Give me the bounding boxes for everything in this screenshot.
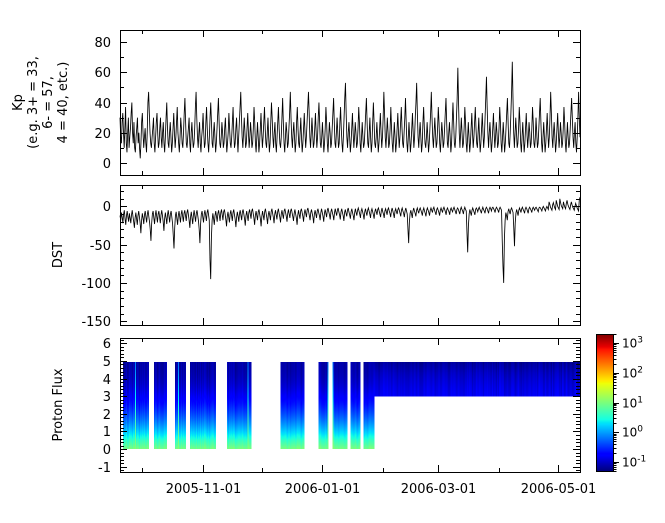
dst-axis-label: DST	[51, 242, 66, 268]
ytick-label-proton_flux-3: 2	[103, 408, 111, 423]
xtick-label-2006-05-01: 2006-05-01	[521, 482, 597, 497]
ytick-label-kp-0: 0	[103, 157, 111, 172]
ytick-label-proton_flux-5: 4	[103, 373, 111, 388]
ytick-label-kp-3: 60	[94, 66, 111, 81]
ytick-label-kp-1: 20	[94, 127, 111, 142]
ytick-label-proton_flux-0: -1	[98, 461, 111, 476]
kp-axis-label-line-3: 4 = 40, etc.)	[56, 62, 71, 144]
colorbar-label-2: 101	[622, 396, 643, 411]
ytick-label-proton_flux-6: 5	[103, 355, 111, 370]
xtick-label-2005-11-01: 2005-11-01	[166, 482, 242, 497]
space-weather-figure: 0204060800-50-100-150-101234562005-11-01…	[0, 0, 665, 523]
kp-trace	[120, 62, 580, 159]
dst-trace	[120, 197, 580, 283]
ytick-label-dst-1: -50	[90, 239, 111, 254]
colorbar-label-1: 100	[622, 425, 643, 440]
figure-svg: 0204060800-50-100-150-101234562005-11-01…	[0, 0, 665, 523]
proton-flux-axis-label: Proton Flux	[51, 368, 66, 441]
kp-axis-label-line-0: Kp	[11, 94, 26, 111]
ytick-label-proton_flux-1: 0	[103, 443, 111, 458]
panel-frame-dst	[121, 186, 581, 326]
colorbar-label-0: 10-1	[622, 455, 646, 470]
colorbar-label-3: 102	[622, 366, 643, 381]
xtick-label-2006-03-01: 2006-03-01	[401, 482, 477, 497]
kp-axis-label-line-2: 6- = 57,	[41, 76, 56, 129]
xtick-label-2006-01-01: 2006-01-01	[285, 482, 361, 497]
colorbar-frame	[597, 335, 614, 472]
ytick-label-kp-2: 40	[94, 97, 111, 112]
ytick-label-kp-4: 80	[94, 36, 111, 51]
kp-axis-label-line-1: (e.g. 3+ = 33,	[26, 56, 41, 149]
colorbar-label-4: 103	[622, 336, 643, 351]
ytick-label-dst-0: 0	[103, 200, 111, 215]
ytick-label-proton_flux-2: 1	[103, 425, 111, 440]
ytick-label-proton_flux-4: 3	[103, 390, 111, 405]
ytick-label-dst-2: -100	[81, 277, 111, 292]
panel-frame-proton_flux	[121, 339, 581, 473]
ytick-label-proton_flux-7: 6	[103, 337, 111, 352]
ytick-label-dst-3: -150	[81, 315, 111, 330]
